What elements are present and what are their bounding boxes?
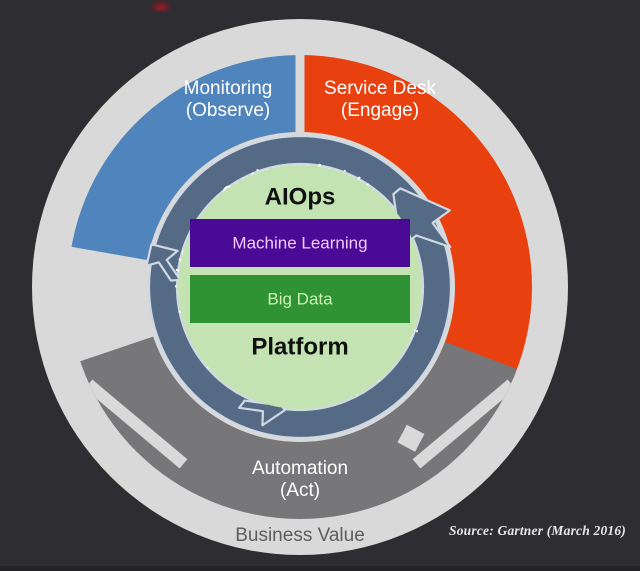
- core-bar-label-big-data: Big Data: [267, 289, 333, 308]
- source-attribution: Source: Gartner (March 2016): [449, 523, 626, 539]
- core-bar-big-data[interactable]: Big Data: [190, 275, 410, 323]
- segment-service-desk-line2: (Engage): [341, 100, 419, 121]
- segment-automation-line1: Automation: [252, 458, 348, 479]
- diagram-canvas: Continuous Insights Continuous Insights …: [0, 0, 640, 571]
- segment-service-desk-line1: Service Desk: [324, 78, 436, 99]
- outer-ring-label: Business Value: [235, 525, 365, 546]
- aiops-circular-diagram: Continuous Insights Continuous Insights …: [0, 0, 640, 571]
- segment-monitoring-line2: (Observe): [186, 100, 270, 121]
- segment-label-monitoring: Monitoring (Observe): [184, 78, 273, 121]
- core-bar-machine-learning[interactable]: Machine Learning: [190, 219, 410, 267]
- segment-automation-line2: (Act): [280, 480, 320, 501]
- core-heading-aiops: AIOps: [265, 183, 336, 210]
- aiops-core: AIOps Machine Learning Big Data Platform: [178, 165, 422, 409]
- core-heading-platform: Platform: [251, 333, 348, 360]
- core-bar-label-machine-learning: Machine Learning: [232, 233, 367, 252]
- bottom-edge-strip: [0, 566, 640, 571]
- segment-monitoring-line1: Monitoring: [184, 78, 273, 99]
